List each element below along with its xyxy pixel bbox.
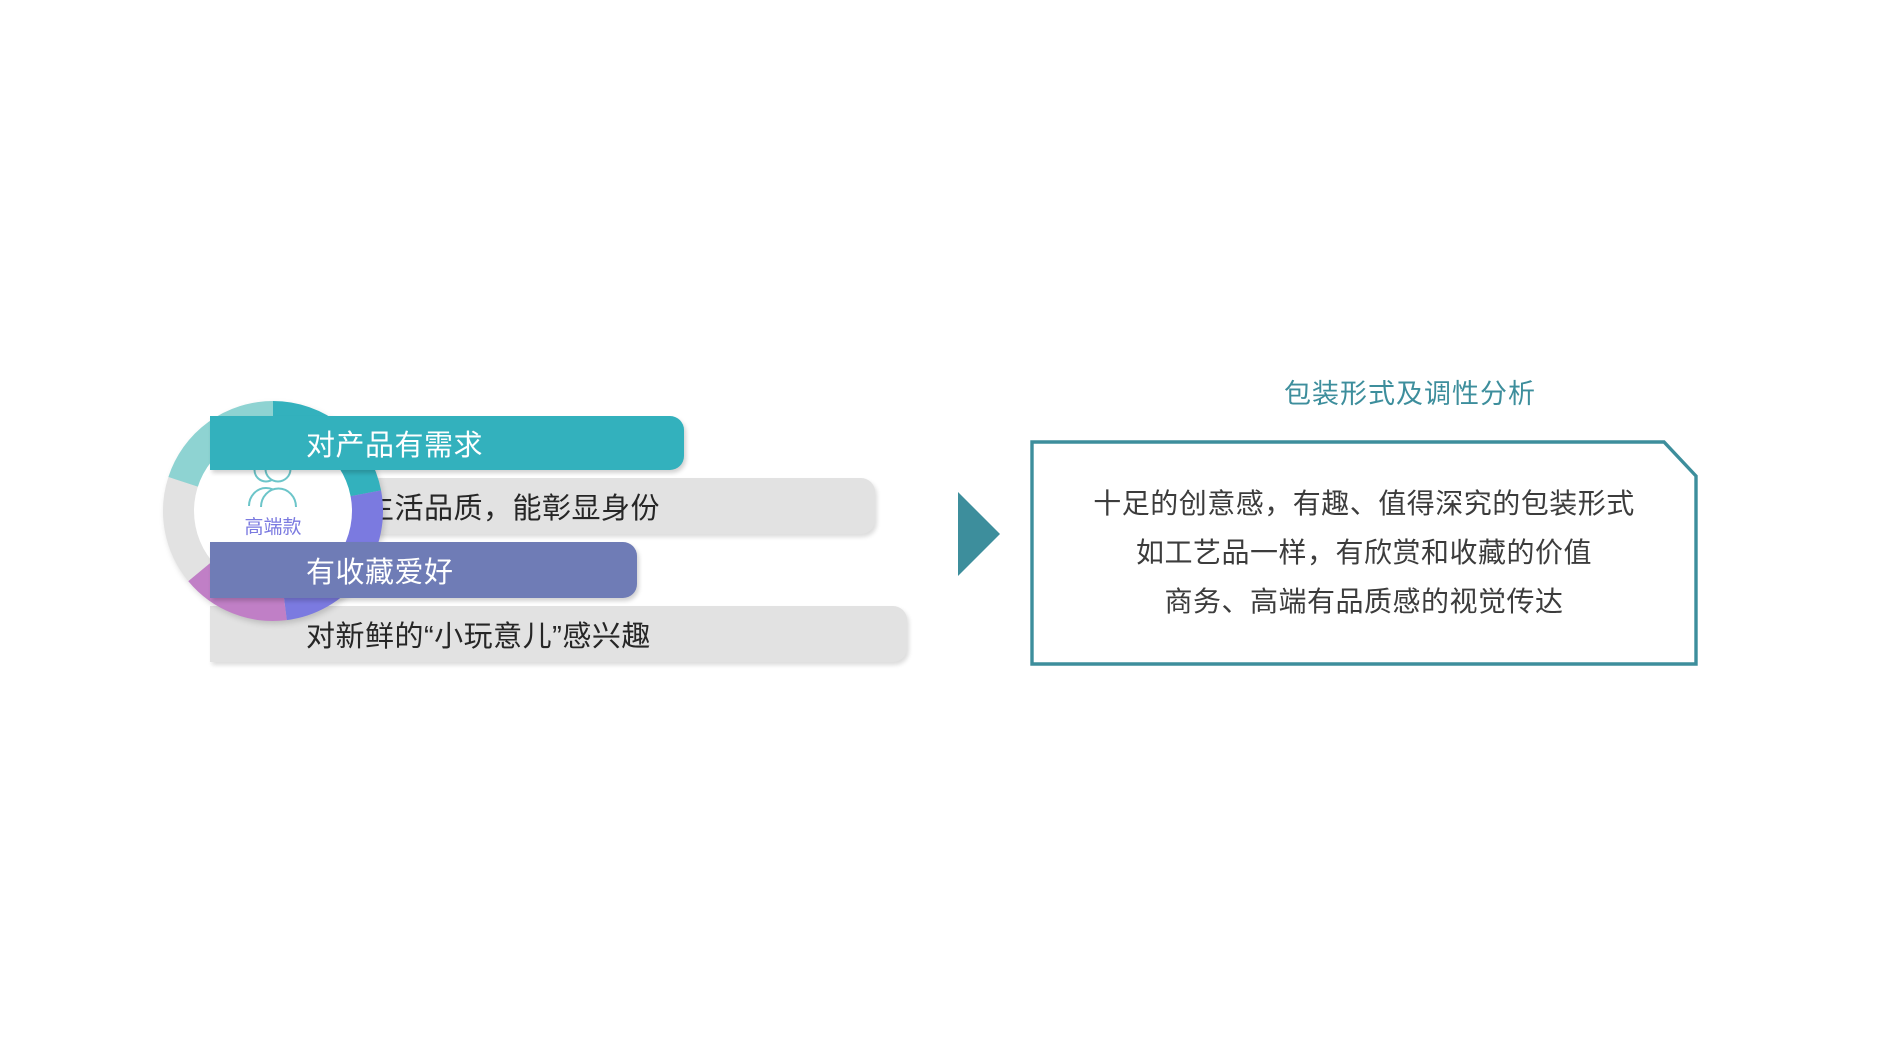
- analysis-line-1: 十足的创意感，有趣、值得深究的包装形式: [1093, 484, 1635, 524]
- persona-trait-bar-1[interactable]: 对产品有需求: [210, 416, 684, 470]
- persona-trait-bar-3[interactable]: 有收藏爱好: [210, 542, 637, 598]
- analysis-text-block: 十足的创意感，有趣、值得深究的包装形式 如工艺品一样，有欣赏和收藏的价值 商务、…: [1030, 440, 1698, 666]
- analysis-line-3: 商务、高端有品质感的视觉传达: [1164, 582, 1563, 622]
- persona-trait-label-3: 有收藏爱好: [306, 549, 454, 591]
- persona-cluster: 对产品有需求 讲究生活品质，能彰显身份 有收藏爱好 对新鲜的“小玩意儿”感兴趣 …: [0, 0, 940, 1057]
- panel-title: 包装形式及调性分析: [1200, 372, 1620, 411]
- analysis-line-2: 如工艺品一样，有欣赏和收藏的价值: [1136, 533, 1592, 573]
- triangle-right-icon: [958, 492, 1000, 576]
- donut-center-line-1: 高端款: [244, 515, 301, 540]
- analysis-callout-box: 十足的创意感，有趣、值得深究的包装形式 如工艺品一样，有欣赏和收藏的价值 商务、…: [1030, 440, 1698, 666]
- persona-trait-label-1: 对产品有需求: [306, 422, 483, 464]
- analysis-panel: 包装形式及调性分析 十足的创意感，有趣、值得深究的包装形式 如工艺品一样，有欣赏…: [1000, 0, 1880, 1057]
